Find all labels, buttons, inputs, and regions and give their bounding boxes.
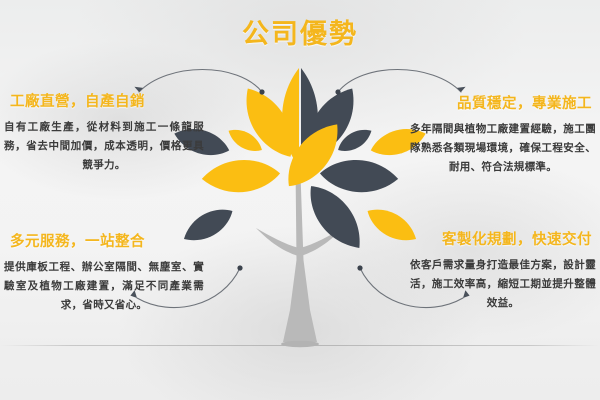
advantage-body: 多年隔間與植物工廠建置經驗，施工團隊熟悉各類現場環境，確保工程安全、耐用、符合法… [396,120,596,177]
advantage-heading: 品質穩定，專業施工 [396,92,592,113]
advantage-body: 提供庫板工程、辦公室隔間、無塵室、實驗室及植物工廠建置，滿足不同產業需求，省時又… [4,258,204,315]
advantage-block-multi-service: 多元服務，一站整合 提供庫板工程、辦公室隔間、無塵室、實驗室及植物工廠建置，滿足… [4,230,204,315]
advantage-heading: 多元服務，一站整合 [10,230,204,251]
advantage-body: 依客戶需求量身打造最佳方案，設計靈活，施工效率高，縮短工期並提升整體效益。 [396,256,596,313]
leaf-mid-right-dark [319,157,399,194]
advantage-body: 自有工廠生產，從材料到施工一條龍服務，省去中間加價，成本透明，價格更具競爭力。 [4,118,204,175]
leaf-mid-left-yellow [201,157,281,194]
company-advantages-poster: 公司優勢 [0,0,600,400]
advantage-block-factory-direct: 工廠直營，自產自銷 自有工廠生產，從材料到施工一條龍服務，省去中間加價，成本透明… [4,90,204,175]
advantage-block-custom-plan: 客製化規劃，快速交付 依客戶需求量身打造最佳方案，設計靈活，施工效率高，縮短工期… [396,228,596,313]
advantage-heading: 客製化規劃，快速交付 [396,228,592,249]
advantage-heading: 工廠直營，自產自銷 [10,90,204,111]
advantage-block-quality-stable: 品質穩定，專業施工 多年隔間與植物工廠建置經驗，施工團隊熟悉各類現場環境，確保工… [396,92,596,177]
page-title: 公司優勢 [0,12,600,51]
